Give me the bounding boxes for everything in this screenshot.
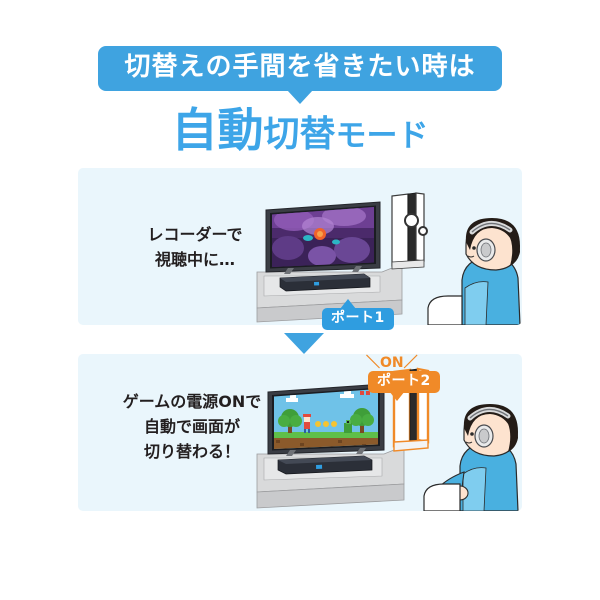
panel-after: ゲームの電源ONで 自動で画面が 切り替わる！ xyxy=(78,354,522,511)
panel-before: レコーダーで 視聴中に… xyxy=(78,168,522,325)
ribbon-tail-triangle xyxy=(287,90,313,104)
thought-bubble-dot-small xyxy=(418,226,428,236)
thought-bubble-dot-large xyxy=(404,213,419,228)
header-ribbon-wrap: 切替えの手間を省きたい時は xyxy=(98,46,501,91)
on-label: ＼ON／ xyxy=(366,352,418,372)
page-title-part1: 自動 xyxy=(171,103,263,157)
header: 切替えの手間を省きたい時は 自動切替モード xyxy=(0,46,600,153)
page-title-part2: 切替 xyxy=(263,114,335,155)
page-title: 自動切替モード xyxy=(0,107,600,153)
infographic-page: 切替えの手間を省きたい時は 自動切替モード レコーダーで 視聴中に… xyxy=(0,0,600,600)
port1-badge: ポート1 xyxy=(322,308,394,330)
header-ribbon-label: 切替えの手間を省きたい時は xyxy=(98,46,501,91)
page-title-part3: モード xyxy=(336,118,429,154)
flow-arrow-down-icon xyxy=(284,333,324,354)
port2-badge-pointer xyxy=(389,391,405,401)
scene-before xyxy=(252,168,522,325)
